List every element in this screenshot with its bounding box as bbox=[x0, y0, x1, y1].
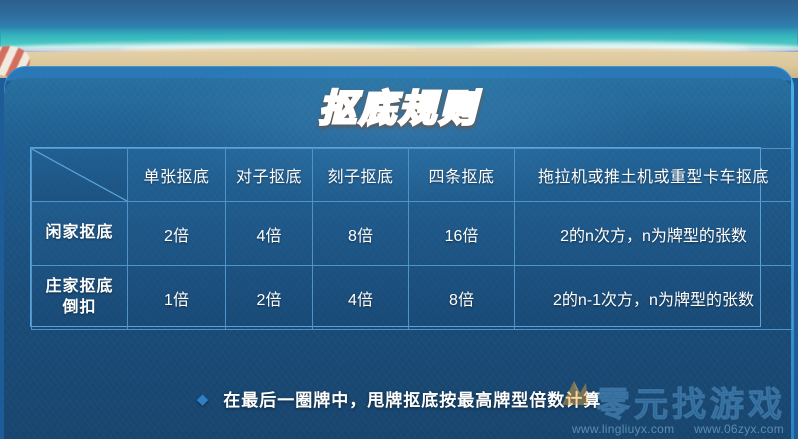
diagonal-divider-icon bbox=[32, 149, 127, 201]
cell-banker-four: 8倍 bbox=[409, 266, 515, 330]
cell-banker-single: 1倍 bbox=[128, 266, 226, 330]
cell-banker-triple: 4倍 bbox=[313, 266, 409, 330]
page-title: 抠底规则 bbox=[0, 78, 798, 132]
cell-player-four: 16倍 bbox=[409, 202, 515, 266]
footer-note: ◆在最后一圈牌中，甩牌抠底按最高牌型倍数计算 bbox=[0, 386, 798, 411]
rules-table: 单张抠底 对子抠底 刻子抠底 四条抠底 拖拉机或推土机或重型卡车抠底 闲家抠底 … bbox=[30, 147, 761, 327]
table-row: 闲家抠底 2倍 4倍 8倍 16倍 2的n次方，n为牌型的张数 bbox=[32, 202, 793, 266]
cell-banker-pair: 2倍 bbox=[226, 266, 313, 330]
footer-note-text: 在最后一圈牌中，甩牌抠底按最高牌型倍数计算 bbox=[223, 391, 601, 410]
table-row: 庄家抠底 倒扣 1倍 2倍 4倍 8倍 2的n-1次方，n为牌型的张数 bbox=[32, 266, 793, 330]
cell-player-combo: 2的n次方，n为牌型的张数 bbox=[515, 202, 793, 266]
row-label-player: 闲家抠底 bbox=[32, 202, 128, 266]
column-header-triple: 刻子抠底 bbox=[313, 149, 409, 202]
diamond-bullet-icon: ◆ bbox=[197, 390, 210, 408]
column-header-pair: 对子抠底 bbox=[226, 149, 313, 202]
cell-player-triple: 8倍 bbox=[313, 202, 409, 266]
table-header-row: 单张抠底 对子抠底 刻子抠底 四条抠底 拖拉机或推土机或重型卡车抠底 bbox=[32, 149, 793, 202]
cell-banker-combo: 2的n-1次方，n为牌型的张数 bbox=[515, 266, 793, 330]
row-label-banker-line1: 庄家抠底 bbox=[34, 277, 125, 297]
app-screen: 抠底规则 单张抠底 对子抠底 刻子抠底 四条抠底 拖拉机或推土机或重型卡车抠底 … bbox=[0, 0, 798, 439]
row-label-banker-line2: 倒扣 bbox=[34, 298, 125, 318]
column-header-four: 四条抠底 bbox=[409, 149, 515, 202]
table-corner-cell bbox=[32, 149, 128, 202]
column-header-combo: 拖拉机或推土机或重型卡车抠底 bbox=[515, 149, 793, 202]
column-header-single: 单张抠底 bbox=[128, 149, 226, 202]
cell-player-pair: 4倍 bbox=[226, 202, 313, 266]
cell-player-single: 2倍 bbox=[128, 202, 226, 266]
row-label-banker: 庄家抠底 倒扣 bbox=[32, 266, 128, 330]
